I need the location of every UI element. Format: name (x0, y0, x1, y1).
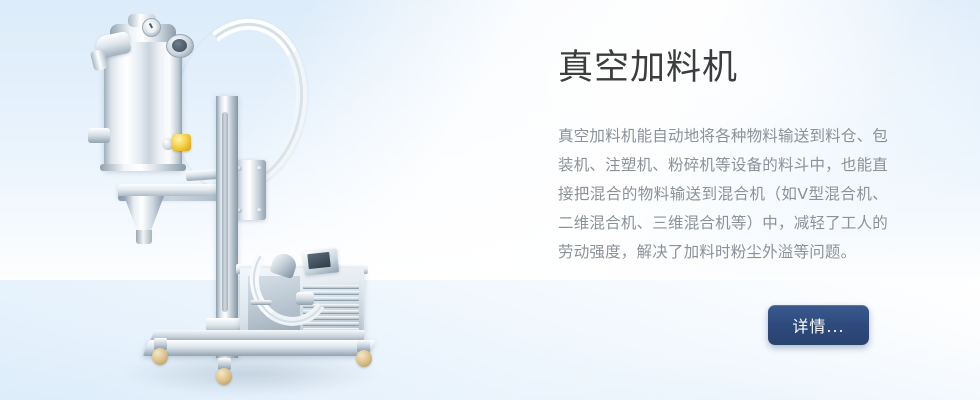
hopper-bottom-rib (100, 164, 186, 171)
yellow-valve-handle (172, 134, 191, 151)
product-image-vacuum-feeder (0, 0, 420, 400)
pressure-gauge-icon (142, 18, 161, 37)
vent-louver (303, 322, 359, 326)
top-port-opening (172, 39, 187, 52)
bracket-bolt (257, 208, 262, 213)
discharge-cone (124, 196, 164, 232)
details-button[interactable]: 详情... (768, 305, 869, 345)
control-panel-screen (307, 252, 330, 269)
bracket-bolt (257, 166, 262, 171)
product-banner: 真空加料机 真空加料机能自动地将各种物料输送到料仓、包装机、注塑机、粉碎机等设备… (0, 0, 980, 400)
stainless-hopper (104, 42, 182, 170)
page-title: 真空加料机 (558, 46, 738, 90)
hose-clamp (296, 292, 314, 305)
banner-content: 真空加料机 真空加料机能自动地将各种物料输送到料仓、包装机、注塑机、粉碎机等设备… (558, 0, 918, 400)
mast-guide-slot (222, 112, 228, 312)
caster-wheel (356, 350, 372, 367)
trolley-handle (250, 300, 272, 305)
product-description: 真空加料机能自动地将各种物料输送到料仓、包装机、注塑机、粉碎机等设备的料斗中，也… (558, 122, 888, 267)
discharge-outlet (136, 230, 152, 244)
trolley-base-frame (143, 340, 375, 356)
hopper-top-port (166, 34, 194, 58)
hopper-side-port (88, 128, 110, 143)
caster-wheel (152, 348, 168, 365)
caster-wheel (216, 368, 232, 385)
